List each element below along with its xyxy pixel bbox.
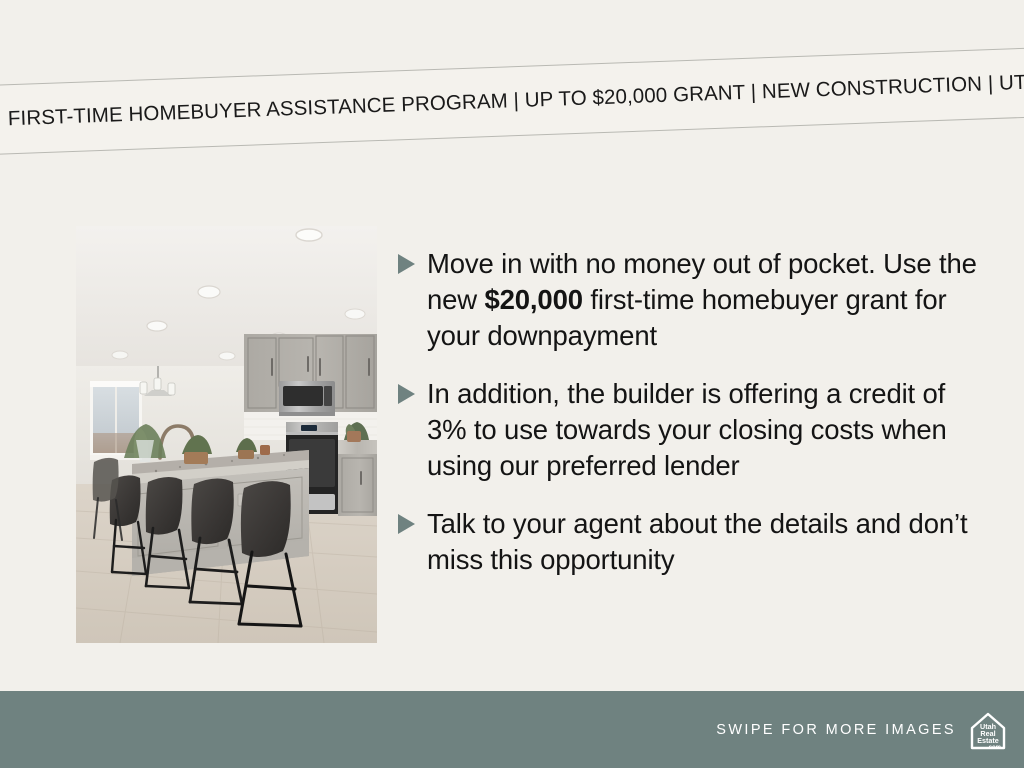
list-item: In addition, the builder is offering a c…: [398, 376, 988, 484]
headline-banner-text: FIRST-TIME HOMEBUYER ASSISTANCE PROGRAM …: [0, 69, 1024, 133]
kitchen-photo-illustration: [76, 226, 377, 643]
headline-banner: FIRST-TIME HOMEBUYER ASSISTANCE PROGRAM …: [0, 46, 1024, 156]
bullet-text: Move in with no money out of pocket. Use…: [427, 246, 988, 354]
bullet-text: Talk to your agent about the details and…: [427, 506, 988, 578]
bullet-text: In addition, the builder is offering a c…: [427, 376, 988, 484]
slide-canvas: FIRST-TIME HOMEBUYER ASSISTANCE PROGRAM …: [0, 0, 1024, 768]
triangle-right-icon: [398, 254, 415, 274]
logo-line-3: Estate: [977, 736, 999, 745]
bullet-text-pre: Talk to your agent about the details and…: [427, 508, 967, 575]
list-item: Talk to your agent about the details and…: [398, 506, 988, 578]
triangle-right-icon: [398, 514, 415, 534]
bullet-text-pre: In addition, the builder is offering a c…: [427, 378, 947, 481]
kitchen-photo: [76, 226, 377, 643]
list-item: Move in with no money out of pocket. Use…: [398, 246, 988, 354]
triangle-right-icon: [398, 384, 415, 404]
bullet-list: Move in with no money out of pocket. Use…: [398, 246, 988, 578]
utah-real-estate-logo[interactable]: Utah Real Estate .com: [966, 708, 1010, 752]
swipe-label: SWIPE FOR MORE IMAGES: [716, 722, 956, 738]
logo-line-4: .com: [987, 745, 1001, 751]
bullet-text-emphasis: $20,000: [485, 284, 583, 315]
footer-bar: SWIPE FOR MORE IMAGES Utah Real Estate .…: [0, 691, 1024, 768]
